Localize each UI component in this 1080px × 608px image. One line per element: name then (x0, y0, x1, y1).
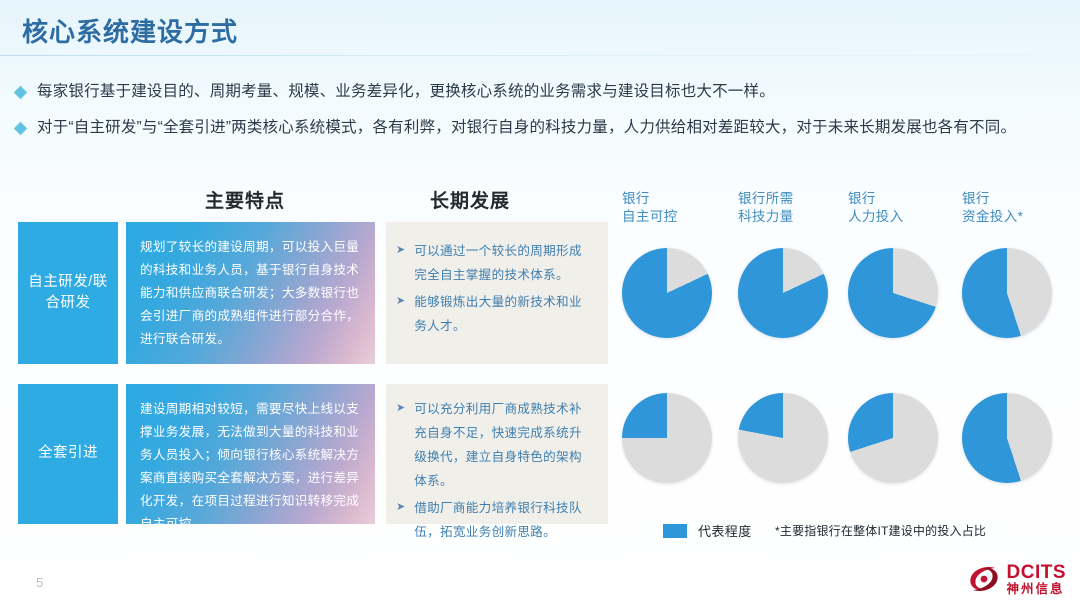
arrow-bullet-icon: ➤ (396, 497, 405, 518)
row-longterm-full-procurement: ➤ 可以充分利用厂商成熟技术补充自身不足，快速完成系统升级换代，建立自身特色的架… (386, 384, 608, 524)
list-item: ➤ 能够锻炼出大量的新技术和业务人才。 (396, 291, 594, 339)
longterm-text: 能够锻炼出大量的新技术和业务人才。 (414, 291, 594, 339)
dcits-swirl-icon (967, 564, 1001, 594)
logo-en-text: DCITS (1007, 563, 1067, 582)
pie-chart-r2-c2 (738, 393, 828, 483)
diamond-bullet-icon (14, 123, 27, 136)
pie-chart-r1-c4 (962, 248, 1052, 338)
pie-chart-r1-c3 (848, 248, 938, 338)
longterm-text: 可以通过一个较长的周期形成完全自主掌握的技术体系。 (414, 240, 594, 288)
list-item: ➤ 可以充分利用厂商成熟技术补充自身不足，快速完成系统升级换代，建立自身特色的架… (396, 398, 594, 494)
pie-heading-4: 银行资金投入* (962, 190, 1023, 226)
pie-chart-r2-c4 (962, 393, 1052, 483)
pie-chart-r1-c2 (738, 248, 828, 338)
arrow-bullet-icon: ➤ (396, 240, 405, 261)
longterm-text: 可以充分利用厂商成熟技术补充自身不足，快速完成系统升级换代，建立自身特色的架构体… (414, 398, 594, 494)
pie-heading-1: 银行自主可控 (622, 190, 678, 226)
diamond-bullet-icon (14, 86, 27, 99)
pie-heading-3: 银行人力投入 (848, 190, 904, 226)
company-logo: DCITS 神州信息 (967, 563, 1067, 596)
title-divider (0, 55, 1080, 56)
row-description-full-procurement: 建设周期相对较短，需要尽快上线以支撑业务发展，无法做到大量的科技和业务人员投入；… (126, 384, 375, 524)
list-item: 每家银行基于建设目的、周期考量、规模、业务差异化，更换核心系统的业务需求与建设目… (16, 82, 1066, 101)
arrow-bullet-icon: ➤ (396, 398, 405, 419)
row-label-self-development: 自主研发/联合研发 (18, 222, 118, 364)
chart-legend: 代表程度 (663, 521, 752, 540)
chart-footnote: *主要指银行在整体IT建设中的投入占比 (775, 522, 986, 539)
bullet-list: 每家银行基于建设目的、周期考量、规模、业务差异化，更换核心系统的业务需求与建设目… (16, 82, 1066, 155)
page-title: 核心系统建设方式 (22, 12, 238, 49)
pie-chart-r2-c1 (622, 393, 712, 483)
column-heading-features: 主要特点 (205, 186, 285, 213)
logo-text: DCITS 神州信息 (1007, 563, 1067, 596)
pie-chart-r2-c3 (848, 393, 938, 483)
row-longterm-self-development: ➤ 可以通过一个较长的周期形成完全自主掌握的技术体系。 ➤ 能够锻炼出大量的新技… (386, 222, 608, 364)
longterm-text: 借助厂商能力培养银行科技队伍，拓宽业务创新思路。 (414, 497, 594, 545)
list-item: 对于“自主研发”与“全套引进”两类核心系统模式，各有利弊，对银行自身的科技力量，… (16, 118, 1066, 137)
bullet-text: 每家银行基于建设目的、周期考量、规模、业务差异化，更换核心系统的业务需求与建设目… (37, 82, 775, 101)
column-heading-longterm: 长期发展 (430, 186, 510, 213)
legend-label: 代表程度 (698, 521, 752, 540)
arrow-bullet-icon: ➤ (396, 291, 405, 312)
page-number: 5 (36, 575, 43, 590)
pie-heading-2: 银行所需科技力量 (738, 190, 794, 226)
list-item: ➤ 借助厂商能力培养银行科技队伍，拓宽业务创新思路。 (396, 497, 594, 545)
logo-cn-text: 神州信息 (1007, 583, 1067, 596)
row-description-self-development: 规划了较长的建设周期，可以投入巨量的科技和业务人员，基于银行自身技术能力和供应商… (126, 222, 375, 364)
bullet-text: 对于“自主研发”与“全套引进”两类核心系统模式，各有利弊，对银行自身的科技力量，… (37, 118, 1016, 137)
pie-chart-r1-c1 (622, 248, 712, 338)
row-label-full-procurement: 全套引进 (18, 384, 118, 524)
list-item: ➤ 可以通过一个较长的周期形成完全自主掌握的技术体系。 (396, 240, 594, 288)
legend-swatch-icon (663, 524, 687, 538)
